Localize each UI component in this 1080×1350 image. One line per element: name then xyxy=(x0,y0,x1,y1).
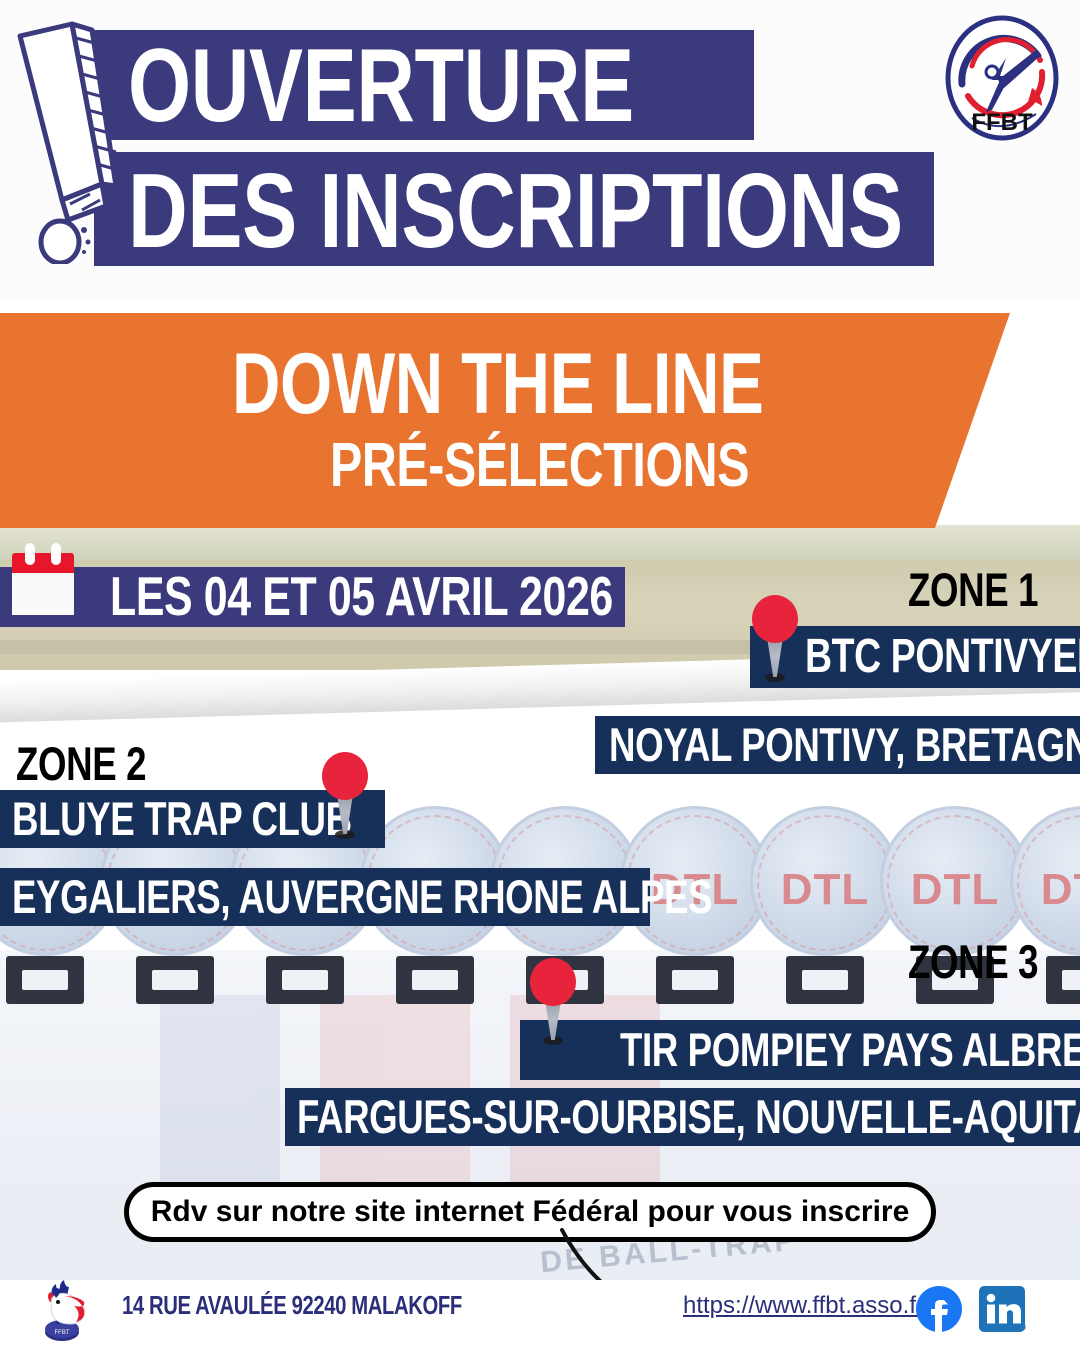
svg-text:FFBT: FFBT xyxy=(971,109,1033,136)
zone-2-heading: ZONE 2 xyxy=(16,740,146,787)
zone-2-city: EYGALIERS, AUVERGNE RHONE ALPES xyxy=(12,868,712,926)
zone-3-club: TIR POMPIEY PAYS ALBRET xyxy=(620,1020,1080,1080)
zone-3-city: FARGUES-SUR-OURBISE, NOUVELLE-AQUITAINE xyxy=(297,1088,1080,1146)
zone-1-heading: ZONE 1 xyxy=(908,566,1038,613)
banner-subtitle: PRÉ-SÉLECTIONS xyxy=(330,435,749,497)
map-pin-icon-zone-2 xyxy=(322,752,368,840)
zone-1-city-bar: NOYAL PONTIVY, BRETAGNE xyxy=(595,716,1080,774)
zone-3-club-bar: TIR POMPIEY PAYS ALBRET xyxy=(520,1020,1080,1080)
event-date-text: LES 04 ET 05 AVRIL 2026 xyxy=(110,566,613,626)
zone-2-club: BLUYE TRAP CLUB xyxy=(12,790,352,848)
event-date-bar: LES 04 ET 05 AVRIL 2026 xyxy=(0,567,625,627)
facebook-icon[interactable] xyxy=(915,1285,963,1333)
header-line-2-bar: DES INSCRIPTIONS xyxy=(94,152,934,266)
map-pin-icon-zone-1 xyxy=(752,595,798,683)
zone-1-city: NOYAL PONTIVY, BRETAGNE xyxy=(609,716,1080,774)
map-pin-icon-zone-3 xyxy=(530,958,576,1046)
zone-3-heading: ZONE 3 xyxy=(908,938,1038,985)
cta-text: Rdv sur notre site internet Fédéral pour… xyxy=(129,1187,931,1237)
cta-pill[interactable]: Rdv sur notre site internet Fédéral pour… xyxy=(124,1182,936,1242)
french-rooster-logo-icon: FFBT xyxy=(36,1276,88,1342)
svg-text:®: ® xyxy=(1023,1325,1026,1332)
ffbt-logo-icon: FFBT xyxy=(942,14,1062,146)
header-line-1-bar: OUVERTURE xyxy=(94,30,754,140)
header-line-2: DES INSCRIPTIONS xyxy=(128,156,903,266)
footer-address: 14 RUE AVAULÉE 92240 MALAKOFF xyxy=(122,1292,462,1318)
exclamation-mark-icon xyxy=(6,14,126,264)
zone-3-city-bar: FARGUES-SUR-OURBISE, NOUVELLE-AQUITAINE xyxy=(285,1088,1080,1146)
zone-1-club-bar: BTC PONTIVYEN xyxy=(750,626,1080,688)
calendar-icon xyxy=(12,543,74,615)
footer-website-link[interactable]: https://www.ffbt.asso.fr/ xyxy=(683,1292,931,1320)
svg-text:FFBT: FFBT xyxy=(55,1330,70,1336)
linkedin-icon[interactable]: ® xyxy=(978,1285,1026,1333)
zone-2-city-bar: EYGALIERS, AUVERGNE RHONE ALPES xyxy=(0,868,650,926)
zone-1-club: BTC PONTIVYEN xyxy=(805,626,1080,688)
banner-down-the-line: DOWN THE LINE PRÉ-SÉLECTIONS xyxy=(0,313,1010,528)
header-line-1: OUVERTURE xyxy=(128,34,634,138)
banner-title: DOWN THE LINE xyxy=(232,341,764,427)
